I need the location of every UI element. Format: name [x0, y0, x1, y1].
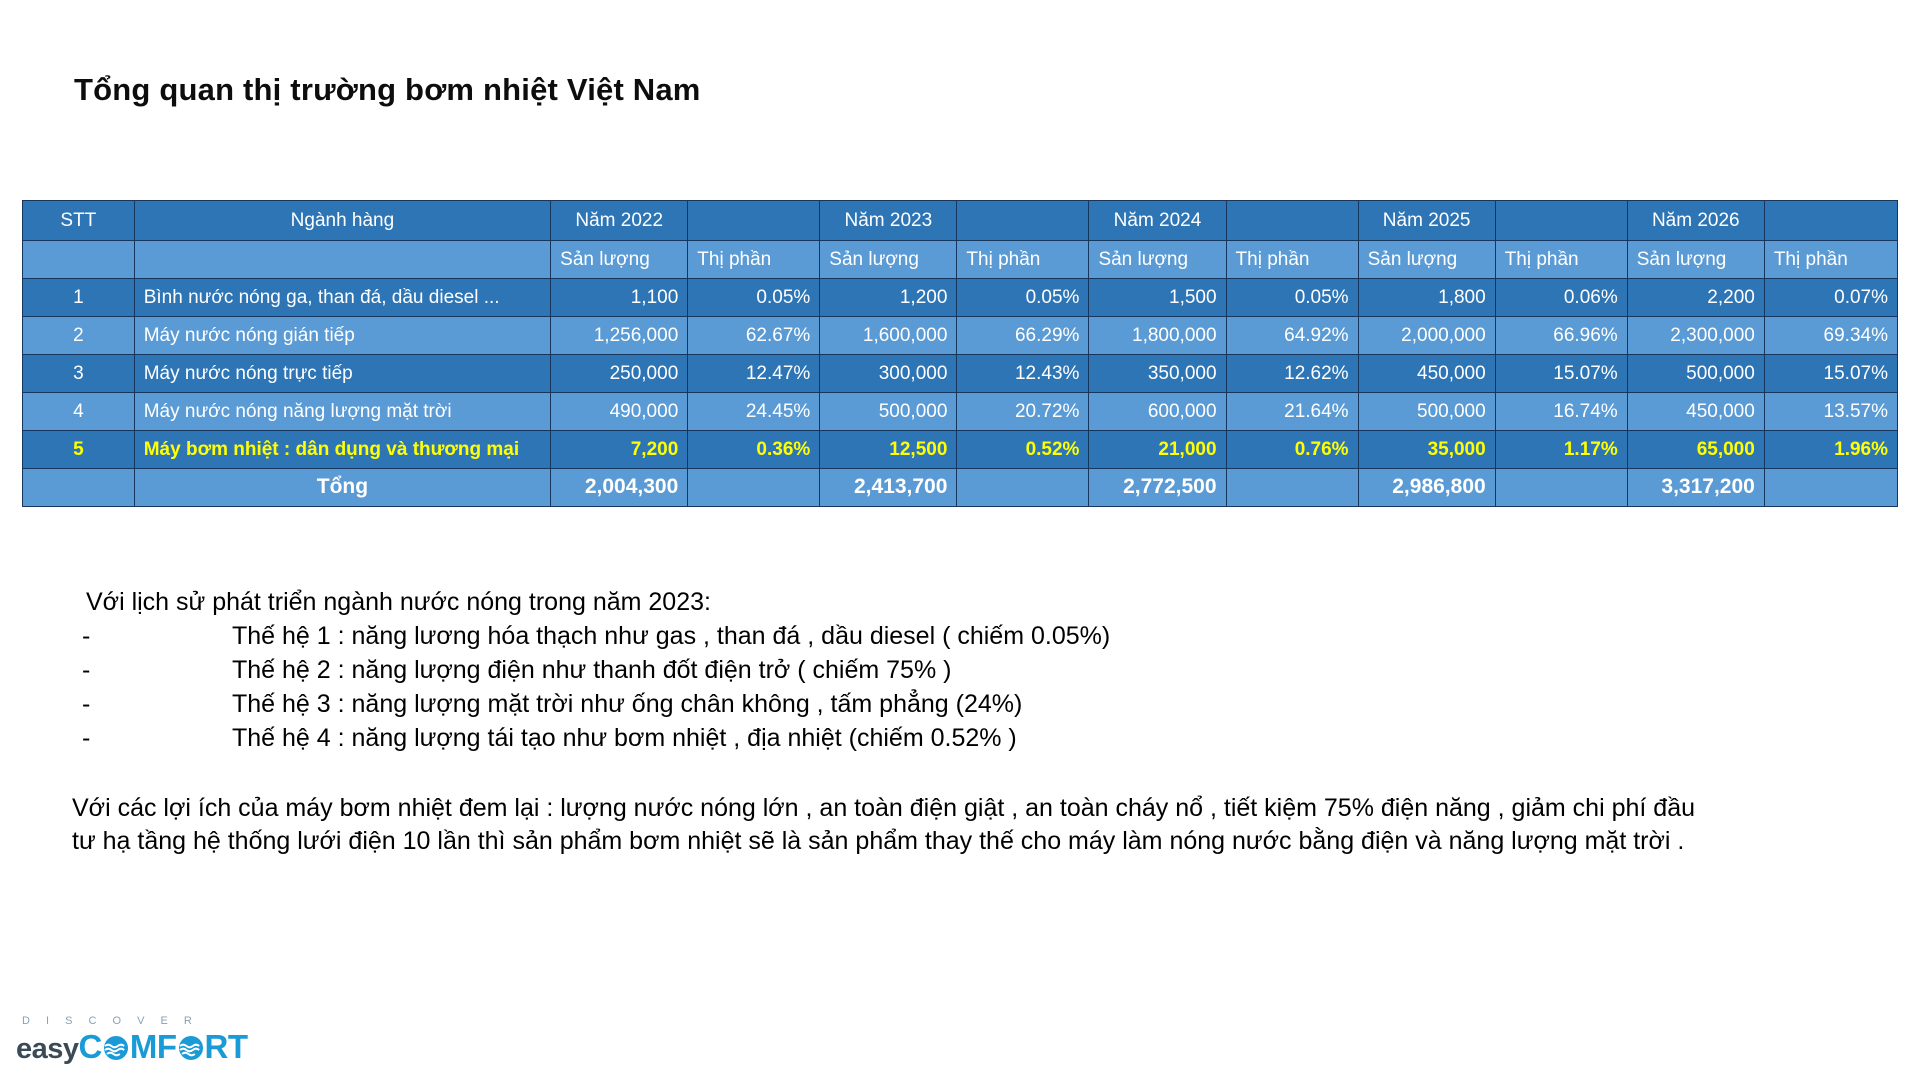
cell-volume-2023: 12,500 — [820, 431, 957, 469]
cell-volume-2023: 300,000 — [820, 355, 957, 393]
cell-share-2024: 12.62% — [1226, 355, 1358, 393]
cell-category: Máy bơm nhiệt : dân dụng và thương mại — [134, 431, 550, 469]
cell-category: Bình nước nóng ga, than đá, dầu diesel .… — [134, 279, 550, 317]
header-year-2022-spacer — [688, 201, 820, 241]
total-volume-2026: 3,317,200 — [1627, 469, 1764, 507]
cell-volume-2024: 1,500 — [1089, 279, 1226, 317]
subheader-stt-blank — [23, 241, 135, 279]
cell-volume-2023: 500,000 — [820, 393, 957, 431]
subheader-share-2023: Thị phần — [957, 241, 1089, 279]
cell-share-2025: 1.17% — [1495, 431, 1627, 469]
closing-paragraph: Với các lợi ích của máy bơm nhiệt đem lạ… — [72, 792, 1712, 858]
total-share-2026 — [1764, 469, 1897, 507]
cell-share-2025: 16.74% — [1495, 393, 1627, 431]
cell-volume-2025: 1,800 — [1358, 279, 1495, 317]
cell-category: Máy nước nóng gián tiếp — [134, 317, 550, 355]
cell-volume-2024: 350,000 — [1089, 355, 1226, 393]
cell-share-2023: 0.05% — [957, 279, 1089, 317]
logo-tagline: D I S C O V E R — [22, 1016, 246, 1027]
cell-volume-2022: 1,256,000 — [551, 317, 688, 355]
logo-letter-c: C — [79, 1030, 102, 1063]
brand-logo: D I S C O V E R easy C MF — [16, 1016, 246, 1070]
cell-share-2026: 0.07% — [1764, 279, 1897, 317]
table-row: 2 Máy nước nóng gián tiếp 1,256,000 62.6… — [23, 317, 1898, 355]
total-share-2023 — [957, 469, 1089, 507]
header-year-2025-spacer — [1495, 201, 1627, 241]
logo-letters-mf: MF — [130, 1030, 177, 1063]
table-row-highlighted: 5 Máy bơm nhiệt : dân dụng và thương mại… — [23, 431, 1898, 469]
cell-volume-2025: 450,000 — [1358, 355, 1495, 393]
bullet-text: Thế hệ 4 : năng lượng tái tạo như bơm nh… — [232, 724, 1782, 753]
subheader-volume-2023: Sản lượng — [820, 241, 957, 279]
cell-share-2023: 20.72% — [957, 393, 1089, 431]
cell-share-2022: 12.47% — [688, 355, 820, 393]
logo-letters-rt: RT — [205, 1030, 248, 1063]
cell-share-2026: 69.34% — [1764, 317, 1897, 355]
bullet-text: Thế hệ 1 : năng lương hóa thạch như gas … — [232, 622, 1782, 651]
cell-share-2023: 12.43% — [957, 355, 1089, 393]
cell-share-2025: 66.96% — [1495, 317, 1627, 355]
cell-volume-2022: 250,000 — [551, 355, 688, 393]
table-row-total: Tổng 2,004,300 2,413,700 2,772,500 2,986… — [23, 469, 1898, 507]
logo-wave-circle-icon — [103, 1033, 129, 1059]
cell-volume-2023: 1,200 — [820, 279, 957, 317]
list-item: - Thế hệ 4 : năng lượng tái tạo như bơm … — [82, 724, 1782, 753]
cell-stt: 1 — [23, 279, 135, 317]
cell-volume-2022: 490,000 — [551, 393, 688, 431]
header-year-2025: Năm 2025 — [1358, 201, 1495, 241]
cell-share-2023: 0.52% — [957, 431, 1089, 469]
table: STT Ngành hàng Năm 2022 Năm 2023 Năm 202… — [22, 200, 1898, 507]
cell-stt: 4 — [23, 393, 135, 431]
cell-volume-2025: 500,000 — [1358, 393, 1495, 431]
cell-volume-2022: 1,100 — [551, 279, 688, 317]
header-year-2023-spacer — [957, 201, 1089, 241]
header-year-2022: Năm 2022 — [551, 201, 688, 241]
total-stt-blank — [23, 469, 135, 507]
cell-volume-2025: 2,000,000 — [1358, 317, 1495, 355]
bullet-dash: - — [82, 656, 232, 685]
header-stt: STT — [23, 201, 135, 241]
header-year-2026: Năm 2026 — [1627, 201, 1764, 241]
cell-share-2022: 0.36% — [688, 431, 820, 469]
cell-share-2026: 13.57% — [1764, 393, 1897, 431]
table-row: 1 Bình nước nóng ga, than đá, dầu diesel… — [23, 279, 1898, 317]
cell-volume-2025: 35,000 — [1358, 431, 1495, 469]
lead-sentence: Với lịch sử phát triển ngành nước nóng t… — [82, 588, 1782, 617]
cell-share-2024: 0.76% — [1226, 431, 1358, 469]
header-year-2023: Năm 2023 — [820, 201, 957, 241]
subheader-volume-2024: Sản lượng — [1089, 241, 1226, 279]
cell-share-2024: 21.64% — [1226, 393, 1358, 431]
total-volume-2022: 2,004,300 — [551, 469, 688, 507]
cell-share-2022: 0.05% — [688, 279, 820, 317]
header-year-2024-spacer — [1226, 201, 1358, 241]
list-item: - Thế hệ 1 : năng lương hóa thạch như ga… — [82, 622, 1782, 651]
subheader-volume-2022: Sản lượng — [551, 241, 688, 279]
cell-volume-2026: 2,300,000 — [1627, 317, 1764, 355]
subheader-volume-2026: Sản lượng — [1627, 241, 1764, 279]
subheader-category-blank — [134, 241, 550, 279]
cell-share-2026: 1.96% — [1764, 431, 1897, 469]
cell-volume-2024: 1,800,000 — [1089, 317, 1226, 355]
cell-share-2024: 0.05% — [1226, 279, 1358, 317]
cell-share-2025: 0.06% — [1495, 279, 1627, 317]
cell-share-2024: 64.92% — [1226, 317, 1358, 355]
logo-wave-circle-icon-2 — [178, 1033, 204, 1059]
list-item: - Thế hệ 2 : năng lượng điện như thanh đ… — [82, 656, 1782, 685]
cell-volume-2026: 450,000 — [1627, 393, 1764, 431]
bullet-dash: - — [82, 724, 232, 753]
subheader-volume-2025: Sản lượng — [1358, 241, 1495, 279]
total-label: Tổng — [134, 469, 550, 507]
body-text-block: Với lịch sử phát triển ngành nước nóng t… — [82, 588, 1782, 758]
cell-category: Máy nước nóng năng lượng mặt trời — [134, 393, 550, 431]
cell-volume-2023: 1,600,000 — [820, 317, 957, 355]
cell-share-2025: 15.07% — [1495, 355, 1627, 393]
cell-volume-2026: 500,000 — [1627, 355, 1764, 393]
cell-volume-2026: 65,000 — [1627, 431, 1764, 469]
total-volume-2024: 2,772,500 — [1089, 469, 1226, 507]
market-overview-table: STT Ngành hàng Năm 2022 Năm 2023 Năm 202… — [22, 200, 1898, 507]
logo-word-comfort: C MF RT — [79, 1030, 248, 1063]
cell-volume-2024: 21,000 — [1089, 431, 1226, 469]
list-item: - Thế hệ 3 : năng lượng mặt trời như ống… — [82, 690, 1782, 719]
total-volume-2023: 2,413,700 — [820, 469, 957, 507]
bullet-text: Thế hệ 2 : năng lượng điện như thanh đốt… — [232, 656, 1782, 685]
logo-wordmark: easy C MF RT — [16, 1030, 246, 1064]
total-volume-2025: 2,986,800 — [1358, 469, 1495, 507]
header-year-2026-spacer — [1764, 201, 1897, 241]
subheader-share-2022: Thị phần — [688, 241, 820, 279]
cell-volume-2026: 2,200 — [1627, 279, 1764, 317]
cell-stt: 2 — [23, 317, 135, 355]
cell-stt: 3 — [23, 355, 135, 393]
table-header-metrics: Sản lượng Thị phần Sản lượng Thị phần Sả… — [23, 241, 1898, 279]
header-year-2024: Năm 2024 — [1089, 201, 1226, 241]
logo-word-easy: easy — [16, 1035, 79, 1064]
table-row: 4 Máy nước nóng năng lượng mặt trời 490,… — [23, 393, 1898, 431]
cell-volume-2022: 7,200 — [551, 431, 688, 469]
table-row: 3 Máy nước nóng trực tiếp 250,000 12.47%… — [23, 355, 1898, 393]
cell-share-2022: 62.67% — [688, 317, 820, 355]
subheader-share-2025: Thị phần — [1495, 241, 1627, 279]
subheader-share-2026: Thị phần — [1764, 241, 1897, 279]
page-title: Tổng quan thị trường bơm nhiệt Việt Nam — [74, 72, 701, 108]
total-share-2022 — [688, 469, 820, 507]
header-category: Ngành hàng — [134, 201, 550, 241]
cell-stt: 5 — [23, 431, 135, 469]
cell-share-2026: 15.07% — [1764, 355, 1897, 393]
subheader-share-2024: Thị phần — [1226, 241, 1358, 279]
table-header-years: STT Ngành hàng Năm 2022 Năm 2023 Năm 202… — [23, 201, 1898, 241]
cell-category: Máy nước nóng trực tiếp — [134, 355, 550, 393]
cell-volume-2024: 600,000 — [1089, 393, 1226, 431]
bullet-text: Thế hệ 3 : năng lượng mặt trời như ống c… — [232, 690, 1782, 719]
bullet-dash: - — [82, 622, 232, 651]
bullet-dash: - — [82, 690, 232, 719]
cell-share-2023: 66.29% — [957, 317, 1089, 355]
total-share-2025 — [1495, 469, 1627, 507]
cell-share-2022: 24.45% — [688, 393, 820, 431]
total-share-2024 — [1226, 469, 1358, 507]
